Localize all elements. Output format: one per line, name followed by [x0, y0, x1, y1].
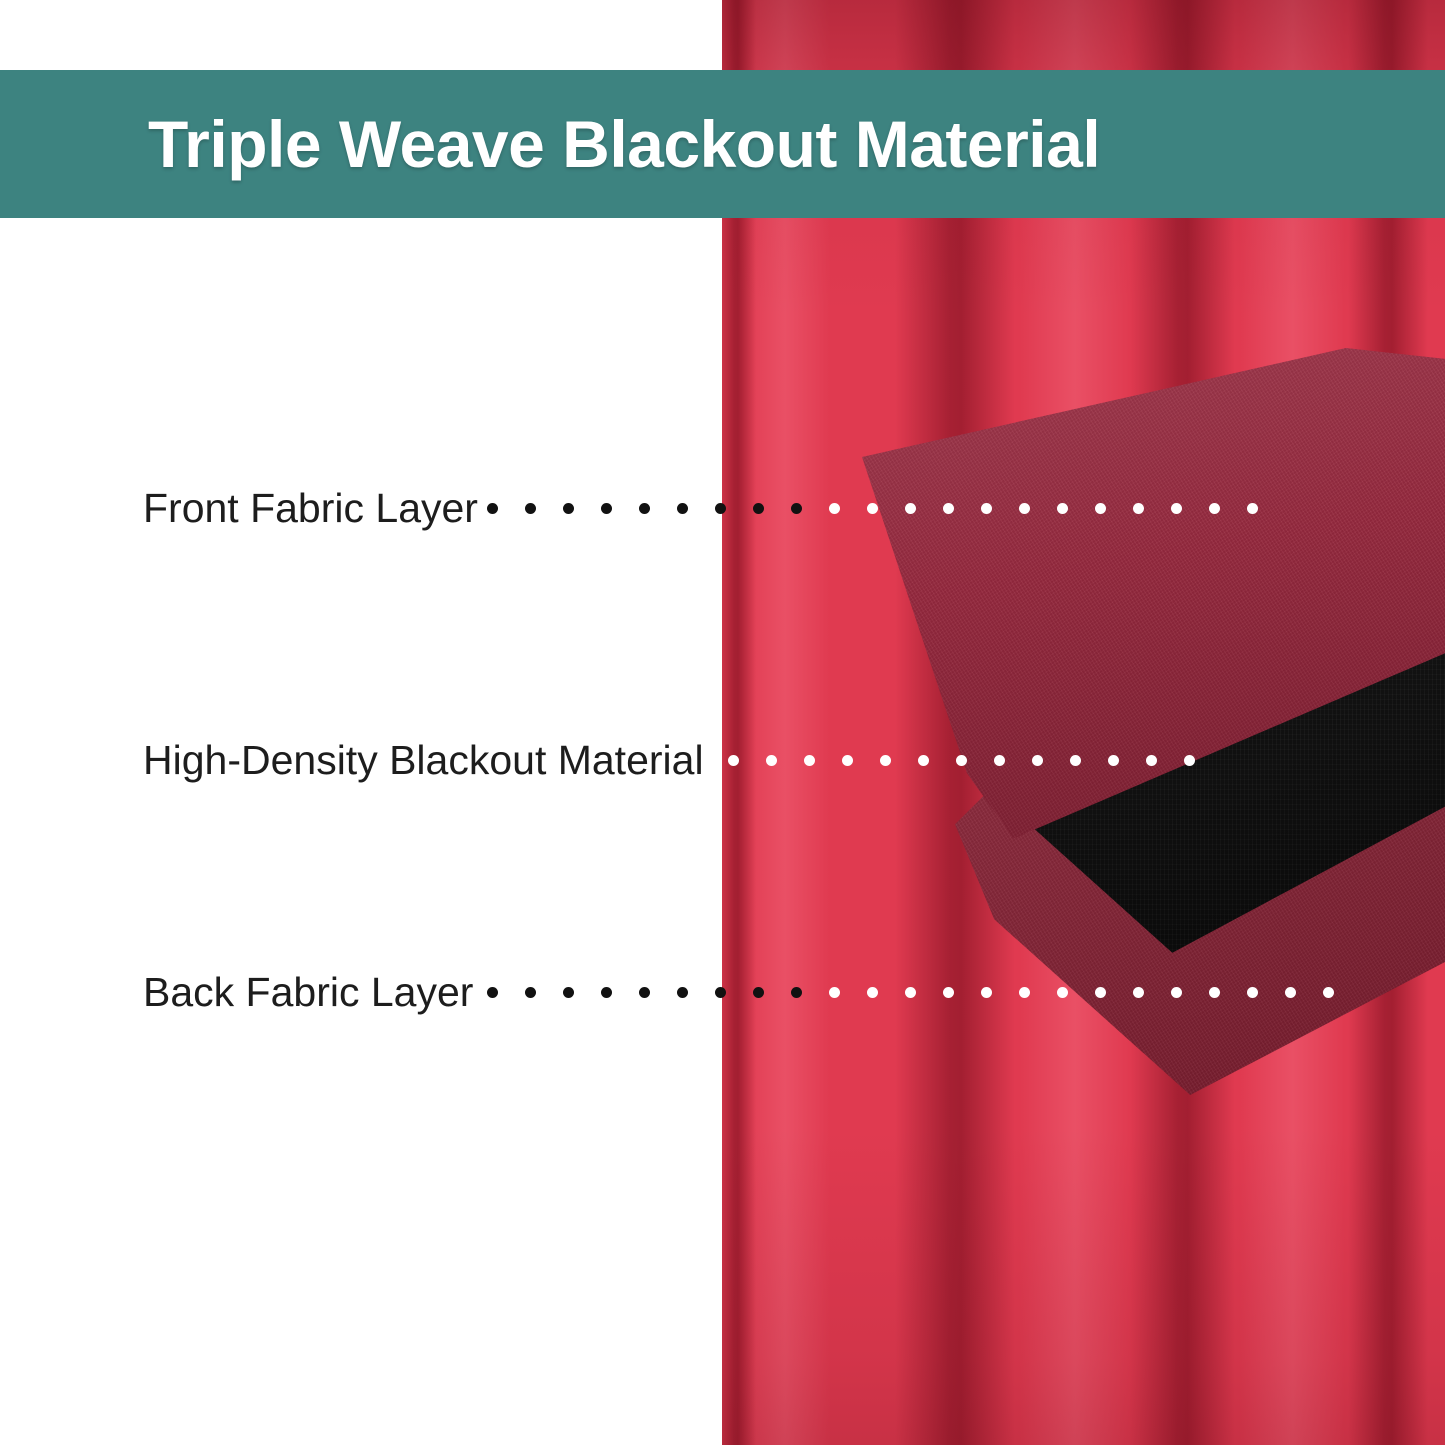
- leader-dot: [1133, 987, 1144, 998]
- callout-high-density-blackout-material: High-Density Blackout Material: [143, 730, 704, 790]
- leader-dot: [1184, 755, 1195, 766]
- callout-label-front-fabric-layer: Front Fabric Layer: [143, 485, 478, 532]
- leader-dot: [487, 987, 498, 998]
- leader-dot: [1019, 503, 1030, 514]
- callout-back-fabric-layer: Back Fabric Layer: [143, 962, 473, 1022]
- leader-dot: [1247, 987, 1258, 998]
- leader-line-high-density-blackout-material: [728, 730, 1222, 790]
- leader-dot: [601, 503, 612, 514]
- leader-dot: [867, 503, 878, 514]
- leader-dot: [804, 755, 815, 766]
- leader-dot: [753, 503, 764, 514]
- leader-dot: [677, 503, 688, 514]
- leader-dot: [1209, 987, 1220, 998]
- leader-dot: [994, 755, 1005, 766]
- leader-dot: [1057, 987, 1068, 998]
- leader-line-back-fabric-layer: [487, 962, 1361, 1022]
- leader-dot: [791, 987, 802, 998]
- leader-dot: [943, 987, 954, 998]
- banner: Triple Weave Blackout Material: [0, 70, 1445, 218]
- leader-dot: [905, 503, 916, 514]
- leader-dot: [829, 987, 840, 998]
- leader-dot: [956, 755, 967, 766]
- leader-dot: [981, 987, 992, 998]
- leader-dot: [1209, 503, 1220, 514]
- leader-dot: [525, 503, 536, 514]
- leader-dot: [842, 755, 853, 766]
- leader-dot: [1247, 503, 1258, 514]
- leader-dot: [715, 987, 726, 998]
- leader-dot: [1171, 503, 1182, 514]
- leader-dot: [1285, 987, 1296, 998]
- leader-dot: [1019, 987, 1030, 998]
- leader-dot: [563, 503, 574, 514]
- leader-dot: [1032, 755, 1043, 766]
- leader-dot: [1133, 503, 1144, 514]
- leader-dot: [766, 755, 777, 766]
- leader-dot: [1108, 755, 1119, 766]
- callout-label-high-density-blackout-material: High-Density Blackout Material: [143, 737, 704, 784]
- leader-dot: [1323, 987, 1334, 998]
- leader-dot: [918, 755, 929, 766]
- leader-dot: [981, 503, 992, 514]
- leader-dot: [905, 987, 916, 998]
- leader-dot: [563, 987, 574, 998]
- leader-dot: [487, 503, 498, 514]
- leader-dot: [1146, 755, 1157, 766]
- leader-dot: [1095, 503, 1106, 514]
- leader-dot: [791, 503, 802, 514]
- leader-dot: [880, 755, 891, 766]
- leader-dot: [601, 987, 612, 998]
- callout-front-fabric-layer: Front Fabric Layer: [143, 478, 478, 538]
- leader-dot: [1095, 987, 1106, 998]
- leader-dot: [753, 987, 764, 998]
- leader-dot: [715, 503, 726, 514]
- callout-label-back-fabric-layer: Back Fabric Layer: [143, 969, 473, 1016]
- leader-dot: [829, 503, 840, 514]
- leader-dot: [525, 987, 536, 998]
- leader-dot: [639, 503, 650, 514]
- leader-dot: [1057, 503, 1068, 514]
- leader-line-front-fabric-layer: [487, 478, 1285, 538]
- leader-dot: [1070, 755, 1081, 766]
- leader-dot: [943, 503, 954, 514]
- leader-dot: [728, 755, 739, 766]
- leader-dot: [677, 987, 688, 998]
- leader-dot: [867, 987, 878, 998]
- leader-dot: [639, 987, 650, 998]
- page-title: Triple Weave Blackout Material: [148, 106, 1100, 182]
- product-infographic: Triple Weave Blackout Material Front Fab…: [0, 0, 1445, 1445]
- leader-dot: [1171, 987, 1182, 998]
